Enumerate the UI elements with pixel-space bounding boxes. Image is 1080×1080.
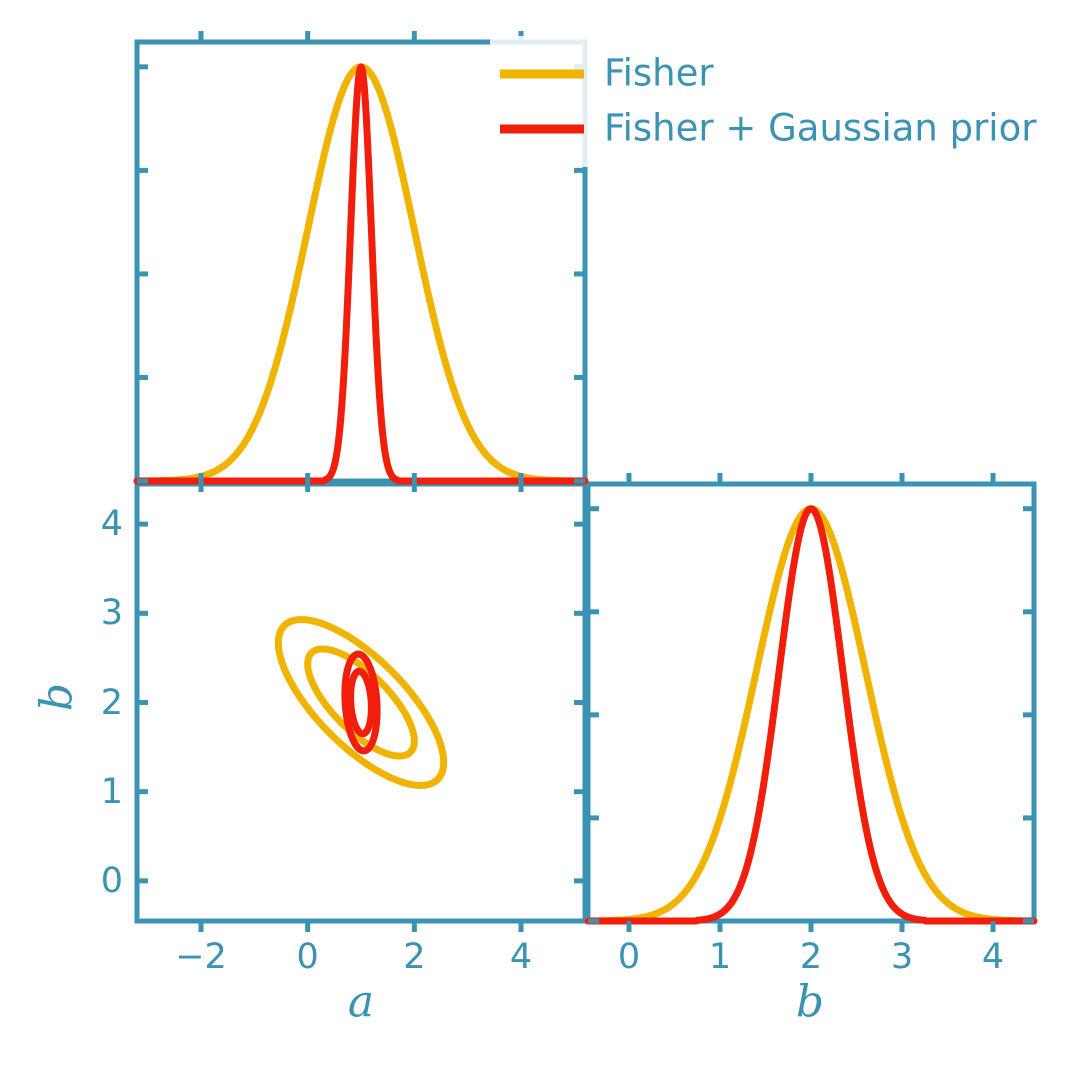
joint-ellipse-fisher-0 xyxy=(308,649,415,756)
x-tick-label-b-1: 1 xyxy=(709,937,731,977)
y-tick-label-b-1: 1 xyxy=(101,772,123,812)
axis-title-b-x: b xyxy=(796,977,824,1028)
axis-title-a: a xyxy=(348,977,374,1028)
x-tick-label-a-1: 0 xyxy=(297,937,319,977)
panel-marginal-b-spines xyxy=(586,482,1037,924)
axis-title-b-y: b xyxy=(32,683,83,711)
x-tick-label-a-3: 4 xyxy=(510,937,532,977)
x-tick-label-b-2: 2 xyxy=(800,937,822,977)
marginal-b-curve-fisher-prior xyxy=(588,509,1034,921)
legend-label-fisher: Fisher xyxy=(604,52,714,95)
marginal-b-curve-fisher xyxy=(588,509,1034,921)
joint-ellipse-fisher-prior-2 xyxy=(351,671,372,733)
x-tick-label-b-4: 4 xyxy=(982,937,1004,977)
y-tick-label-b-4: 4 xyxy=(101,504,123,544)
x-tick-label-a-0: −2 xyxy=(175,937,227,977)
y-tick-label-b-2: 2 xyxy=(101,683,123,723)
plot-canvas xyxy=(0,0,1080,1080)
x-tick-label-a-2: 2 xyxy=(403,937,425,977)
legend-label-fisher-prior: Fisher + Gaussian prior xyxy=(604,107,1036,150)
corner-plot-figure: −20240123401234 a b b Fisher Fisher + Ga… xyxy=(0,0,1080,1080)
joint-ellipse-fisher-1 xyxy=(278,620,443,786)
panel-joint-ab-spines xyxy=(135,482,588,924)
y-tick-label-b-3: 3 xyxy=(101,593,123,633)
y-tick-label-b-0: 0 xyxy=(101,861,123,901)
x-tick-label-b-3: 3 xyxy=(891,937,913,977)
x-tick-label-b-0: 0 xyxy=(618,937,640,977)
